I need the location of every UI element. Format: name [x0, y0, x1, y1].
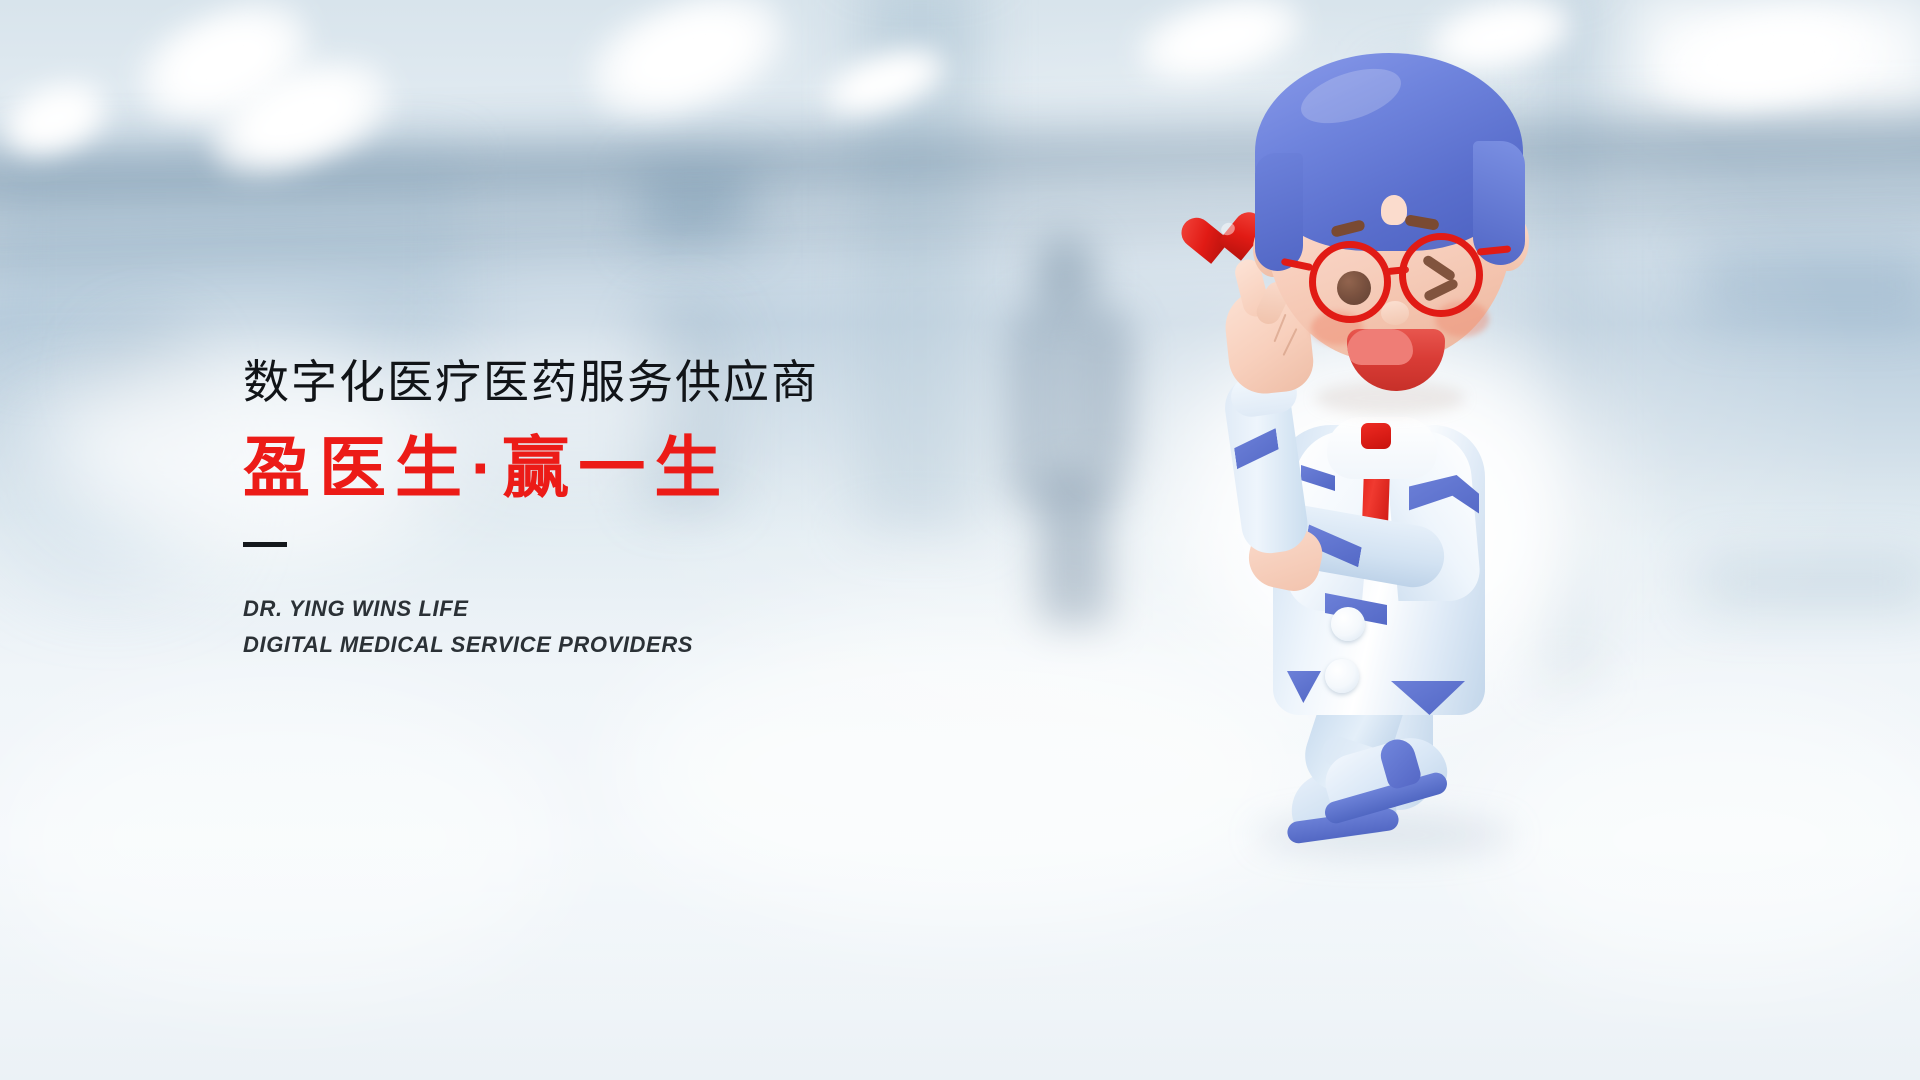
background-person-head: [1034, 236, 1098, 314]
hero-divider: [243, 542, 287, 547]
hero-subtitle-line-2: DIGITAL MEDICAL SERVICE PROVIDERS: [243, 627, 963, 663]
mascot-coat-button: [1331, 607, 1365, 641]
mascot-coat-button: [1325, 659, 1359, 693]
hero-copy-block: 数字化医疗医药服务供应商 盈医生·赢一生 DR. YING WINS LIFE …: [243, 355, 963, 663]
mascot-doctor-character: [1195, 45, 1625, 855]
glasses-lens-left: [1309, 241, 1391, 323]
mascot-hair-side-left: [1255, 153, 1303, 271]
background-shelf-lower-right: [1700, 560, 1920, 606]
hero-subtitle-line-1: DR. YING WINS LIFE: [243, 591, 963, 627]
mascot-nose: [1381, 301, 1409, 325]
mascot-tie-knot: [1361, 423, 1391, 449]
hero-banner: 数字化医疗医药服务供应商 盈医生·赢一生 DR. YING WINS LIFE …: [0, 0, 1920, 1080]
hero-headline: 数字化医疗医药服务供应商: [243, 355, 963, 409]
glasses-lens-right: [1399, 233, 1483, 317]
hero-subtitle-block: DR. YING WINS LIFE DIGITAL MEDICAL SERVI…: [243, 591, 963, 662]
background-shelf-upper-right: [1700, 250, 1920, 320]
mascot-tongue: [1347, 329, 1413, 365]
background-person-arm: [1090, 320, 1134, 470]
floor-reflection: [0, 690, 560, 990]
hero-slogan: 盈医生·赢一生: [243, 431, 963, 506]
background-person-leg: [1038, 470, 1110, 630]
mascot-hair-widow-peak: [1381, 195, 1407, 225]
